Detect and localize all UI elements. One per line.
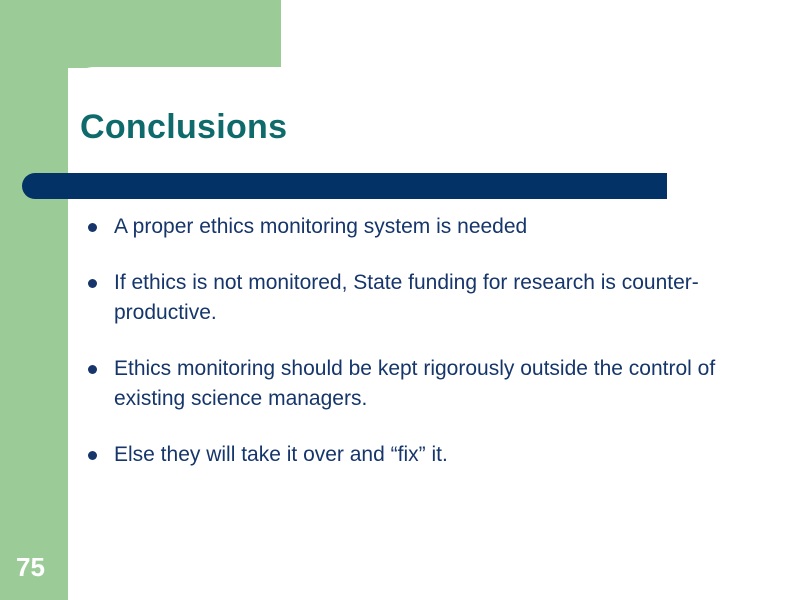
list-item-text: If ethics is not monitored, State fundin… <box>114 268 742 328</box>
list-item: A proper ethics monitoring system is nee… <box>82 212 742 242</box>
page-number: 75 <box>16 552 45 583</box>
bullet-dot-icon <box>88 365 97 374</box>
page-title: Conclusions <box>80 108 287 147</box>
bullet-dot-icon <box>88 279 97 288</box>
list-item: Ethics monitoring should be kept rigorou… <box>82 354 742 414</box>
bullet-dot-icon <box>88 223 97 232</box>
list-item-text: A proper ethics monitoring system is nee… <box>114 212 742 242</box>
list-item-text: Ethics monitoring should be kept rigorou… <box>114 354 742 414</box>
list-item-text: Else they will take it over and “fix” it… <box>114 440 742 470</box>
green-sidebar-decoration <box>0 0 68 600</box>
bullet-dot-icon <box>88 451 97 460</box>
presentation-slide: Conclusions A proper ethics monitoring s… <box>0 0 800 600</box>
list-item: Else they will take it over and “fix” it… <box>82 440 742 470</box>
list-item: If ethics is not monitored, State fundin… <box>82 268 742 328</box>
green-top-block-decoration <box>0 0 281 68</box>
bullet-list: A proper ethics monitoring system is nee… <box>82 212 742 470</box>
title-accent-bar <box>22 173 667 199</box>
